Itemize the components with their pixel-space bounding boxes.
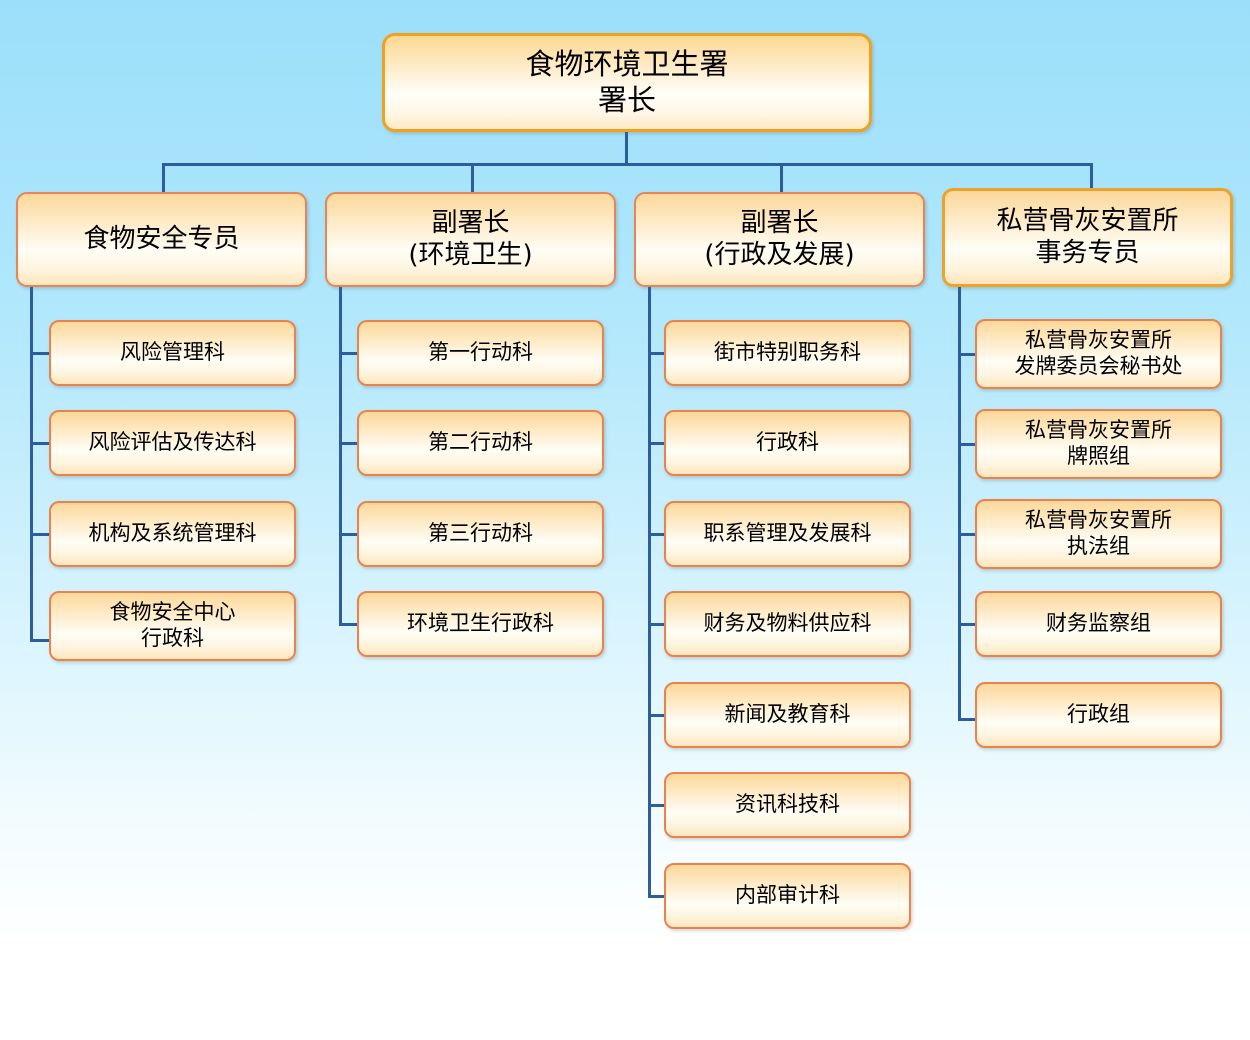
org-node-root[interactable]: 食物环境卫生署 署长	[382, 33, 872, 132]
org-node-3-6[interactable]: 资讯科技科	[664, 772, 911, 838]
connector-spine-branch-2	[339, 287, 342, 625]
connector-stub-2-2	[339, 442, 359, 445]
org-node-3-4[interactable]: 财务及物料供应科	[664, 591, 911, 657]
org-node-1-4[interactable]: 食物安全中心 行政科	[49, 591, 296, 661]
connector-drop-branch-2	[471, 163, 474, 193]
org-node-3-7[interactable]: 内部审计科	[664, 863, 911, 929]
org-node-3-3[interactable]: 职系管理及发展科	[664, 501, 911, 567]
org-node-2-4[interactable]: 环境卫生行政科	[357, 591, 604, 657]
org-node-3-2[interactable]: 行政科	[664, 410, 911, 476]
org-node-4-4[interactable]: 财务监察组	[975, 591, 1222, 657]
connector-root-stem	[625, 132, 628, 165]
org-node-4-1[interactable]: 私营骨灰安置所 发牌委员会秘书处	[975, 319, 1222, 389]
connector-spine-branch-1	[30, 287, 33, 642]
connector-stub-1-3	[30, 533, 50, 536]
connector-stub-2-3	[339, 533, 359, 536]
org-node-3-5[interactable]: 新闻及教育科	[664, 682, 911, 748]
org-node-1-3[interactable]: 机构及系统管理科	[49, 501, 296, 567]
org-chart-canvas: 食物环境卫生署 署长 食物安全专员 风险管理科 风险评估及传达科 机构及系统管理…	[0, 0, 1250, 1040]
connector-stub-1-1	[30, 352, 50, 355]
org-node-branch-1[interactable]: 食物安全专员	[16, 192, 307, 287]
org-node-4-3[interactable]: 私营骨灰安置所 执法组	[975, 499, 1222, 569]
connector-stub-1-2	[30, 442, 50, 445]
org-node-1-2[interactable]: 风险评估及传达科	[49, 410, 296, 476]
connector-stub-2-1	[339, 352, 359, 355]
org-node-branch-2[interactable]: 副署长 (环境卫生)	[325, 192, 616, 287]
connector-drop-branch-1	[162, 163, 165, 193]
org-node-2-3[interactable]: 第三行动科	[357, 501, 604, 567]
org-node-2-2[interactable]: 第二行动科	[357, 410, 604, 476]
connector-level2-bus	[162, 163, 1093, 166]
org-node-branch-3[interactable]: 副署长 (行政及发展)	[634, 192, 925, 287]
org-node-2-1[interactable]: 第一行动科	[357, 320, 604, 386]
org-node-3-1[interactable]: 街市特别职务科	[664, 320, 911, 386]
connector-stub-1-4	[30, 639, 50, 642]
org-node-4-2[interactable]: 私营骨灰安置所 牌照组	[975, 409, 1222, 479]
org-node-1-1[interactable]: 风险管理科	[49, 320, 296, 386]
org-node-4-5[interactable]: 行政组	[975, 682, 1222, 748]
connector-drop-branch-3	[780, 163, 783, 193]
connector-stub-2-4	[339, 623, 359, 626]
org-node-branch-4[interactable]: 私营骨灰安置所 事务专员	[942, 188, 1233, 287]
